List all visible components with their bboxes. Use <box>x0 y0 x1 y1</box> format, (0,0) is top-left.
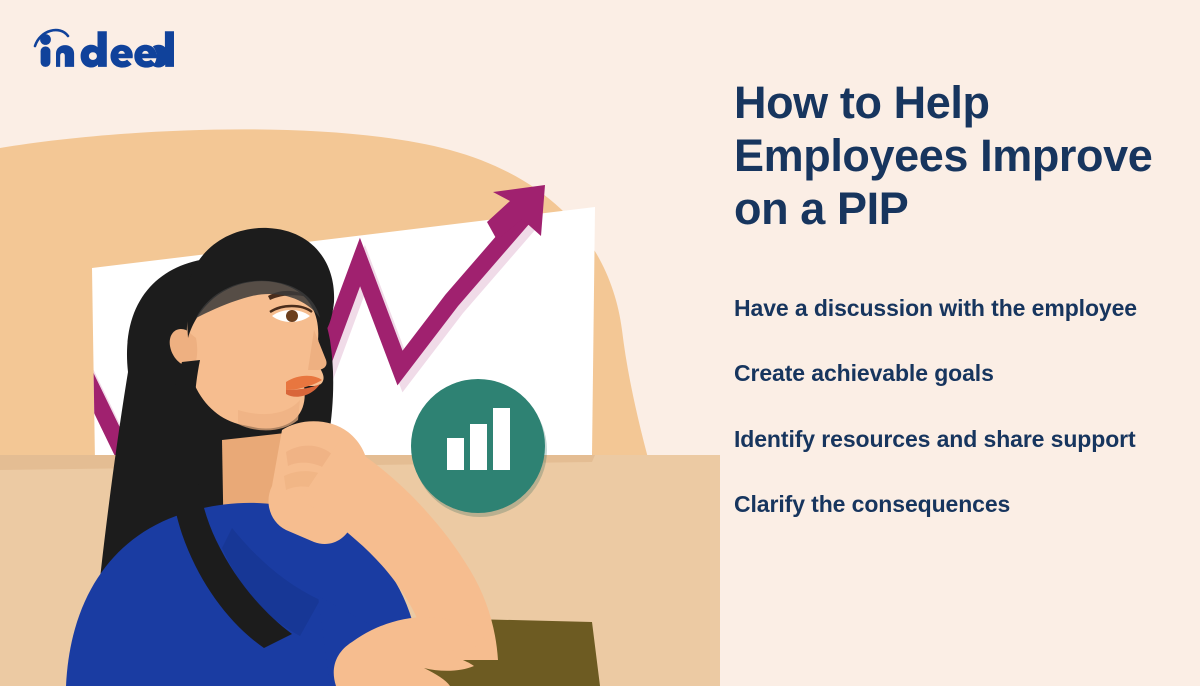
tips-list: Have a discussion with the employee Crea… <box>734 292 1154 521</box>
list-item: Identify resources and share support <box>734 423 1154 456</box>
content-panel: How to Help Employees Improve on a PIP H… <box>734 0 1186 686</box>
list-item: Create achievable goals <box>734 357 1154 390</box>
bar-2 <box>470 424 487 470</box>
list-item: Have a discussion with the employee <box>734 292 1154 325</box>
bar-3 <box>493 408 510 470</box>
bar-1 <box>447 438 464 470</box>
list-item: Clarify the consequences <box>734 488 1154 521</box>
page-title: How to Help Employees Improve on a PIP <box>734 76 1154 235</box>
infographic-canvas: How to Help Employees Improve on a PIP H… <box>0 0 1200 686</box>
illustration <box>0 0 720 686</box>
